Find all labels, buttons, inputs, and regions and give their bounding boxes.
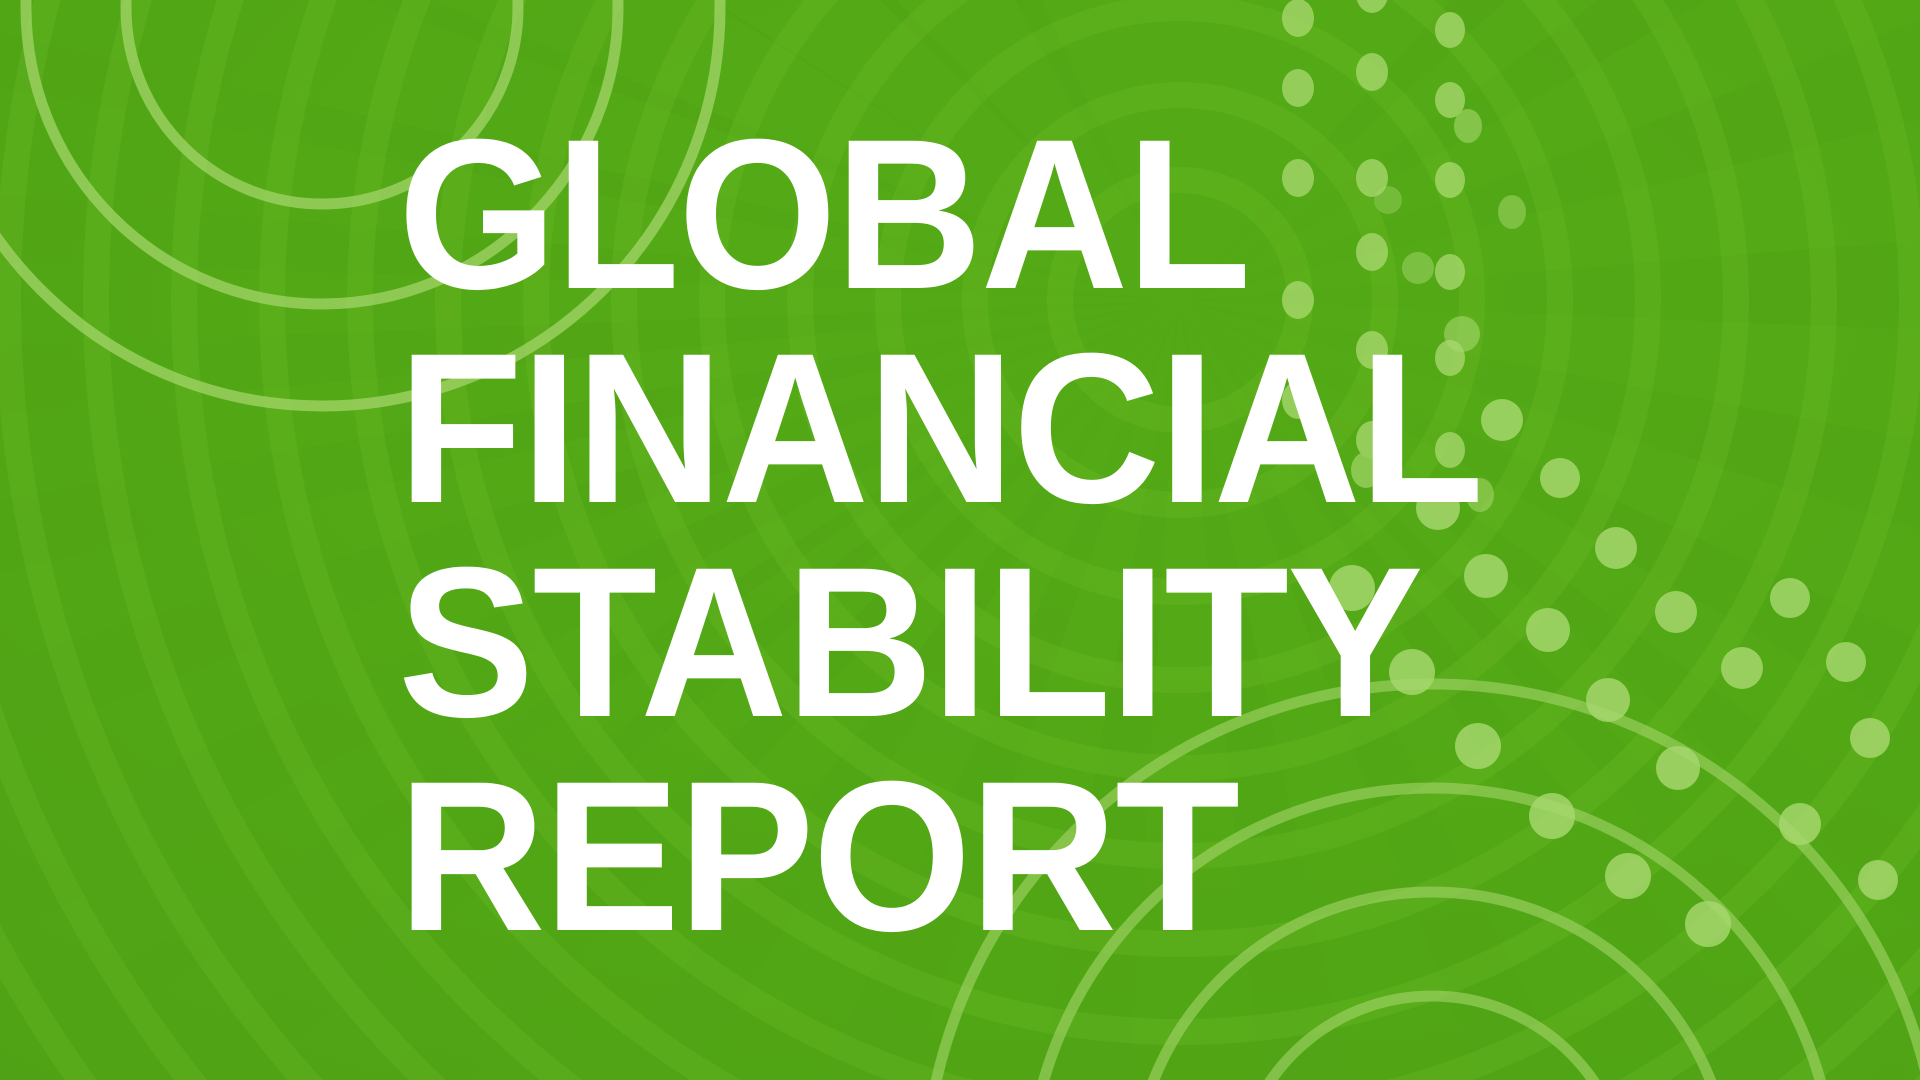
- title-line-1: GLOBAL: [398, 108, 1525, 322]
- title-line-3: STABILITY: [398, 536, 1525, 750]
- report-cover: GLOBAL FINANCIAL STABILITY REPORT: [0, 0, 1920, 1080]
- cover-title: GLOBAL FINANCIAL STABILITY REPORT: [398, 108, 1578, 964]
- title-line-2: FINANCIAL: [398, 322, 1525, 536]
- title-line-4: REPORT: [398, 750, 1525, 964]
